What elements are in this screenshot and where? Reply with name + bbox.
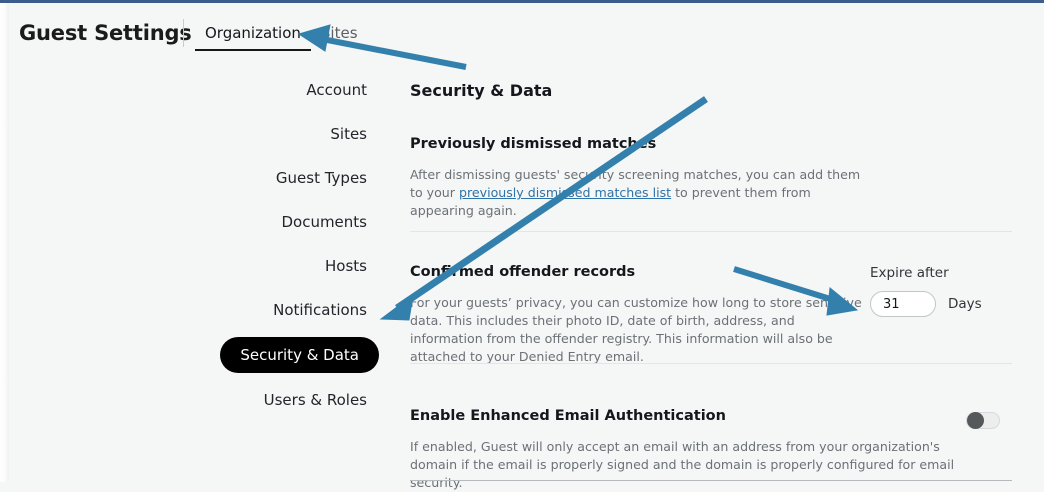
- sidebar-item-account[interactable]: Account: [294, 73, 379, 107]
- header-divider: [183, 19, 184, 47]
- settings-page: Guest Settings Organization Sites Accoun…: [9, 3, 1044, 482]
- expire-after-row: Days: [870, 291, 1000, 317]
- sidebar-item-security-and-data[interactable]: Security & Data: [220, 337, 379, 373]
- tab-organization[interactable]: Organization: [195, 24, 311, 51]
- divider-2: [410, 363, 1012, 364]
- settings-main-content: Security & Data Previously dismissed mat…: [402, 81, 1012, 492]
- sidebar-item-users-and-roles[interactable]: Users & Roles: [252, 383, 379, 417]
- block-confirmed-offender-records: Confirmed offender records For your gues…: [410, 264, 1012, 366]
- divider-3: [410, 480, 1012, 481]
- section-title: Security & Data: [410, 81, 1012, 100]
- page-header: Guest Settings Organization Sites: [9, 3, 1044, 63]
- block-heading-email-auth: Enable Enhanced Email Authentication: [410, 408, 1012, 424]
- tab-sites[interactable]: Sites: [311, 24, 368, 49]
- sidebar-item-documents[interactable]: Documents: [269, 205, 379, 239]
- block-heading-dismissed: Previously dismissed matches: [410, 136, 1012, 152]
- block-body-dismissed: After dismissing guests' security screen…: [410, 166, 862, 220]
- divider-1: [410, 231, 1012, 232]
- expire-after-group: Expire after Days: [870, 265, 1000, 317]
- left-edge-strip: [0, 3, 9, 482]
- sidebar-item-guest-types[interactable]: Guest Types: [264, 161, 379, 195]
- enhanced-email-authentication-toggle[interactable]: [966, 412, 1000, 429]
- tab-bar: Organization Sites: [195, 24, 368, 51]
- sidebar-item-hosts[interactable]: Hosts: [313, 249, 379, 283]
- block-body-email-auth: If enabled, Guest will only accept an em…: [410, 438, 975, 492]
- previously-dismissed-matches-link[interactable]: previously dismissed matches list: [459, 185, 671, 200]
- expire-after-input[interactable]: [870, 291, 936, 317]
- sidebar-item-notifications[interactable]: Notifications: [261, 293, 379, 327]
- expire-after-unit-label: Days: [948, 296, 982, 312]
- window-top-accent-bar: [0, 0, 1044, 3]
- block-body-offender: For your guests’ privacy, you can custom…: [410, 294, 862, 366]
- settings-sidebar-nav: Account Sites Guest Types Documents Host…: [159, 73, 379, 427]
- toggle-knob: [967, 412, 984, 429]
- sidebar-item-sites[interactable]: Sites: [318, 117, 379, 151]
- expire-after-label: Expire after: [870, 265, 1000, 281]
- page-title: Guest Settings: [19, 21, 192, 45]
- block-previously-dismissed-matches: Previously dismissed matches After dismi…: [410, 136, 1012, 220]
